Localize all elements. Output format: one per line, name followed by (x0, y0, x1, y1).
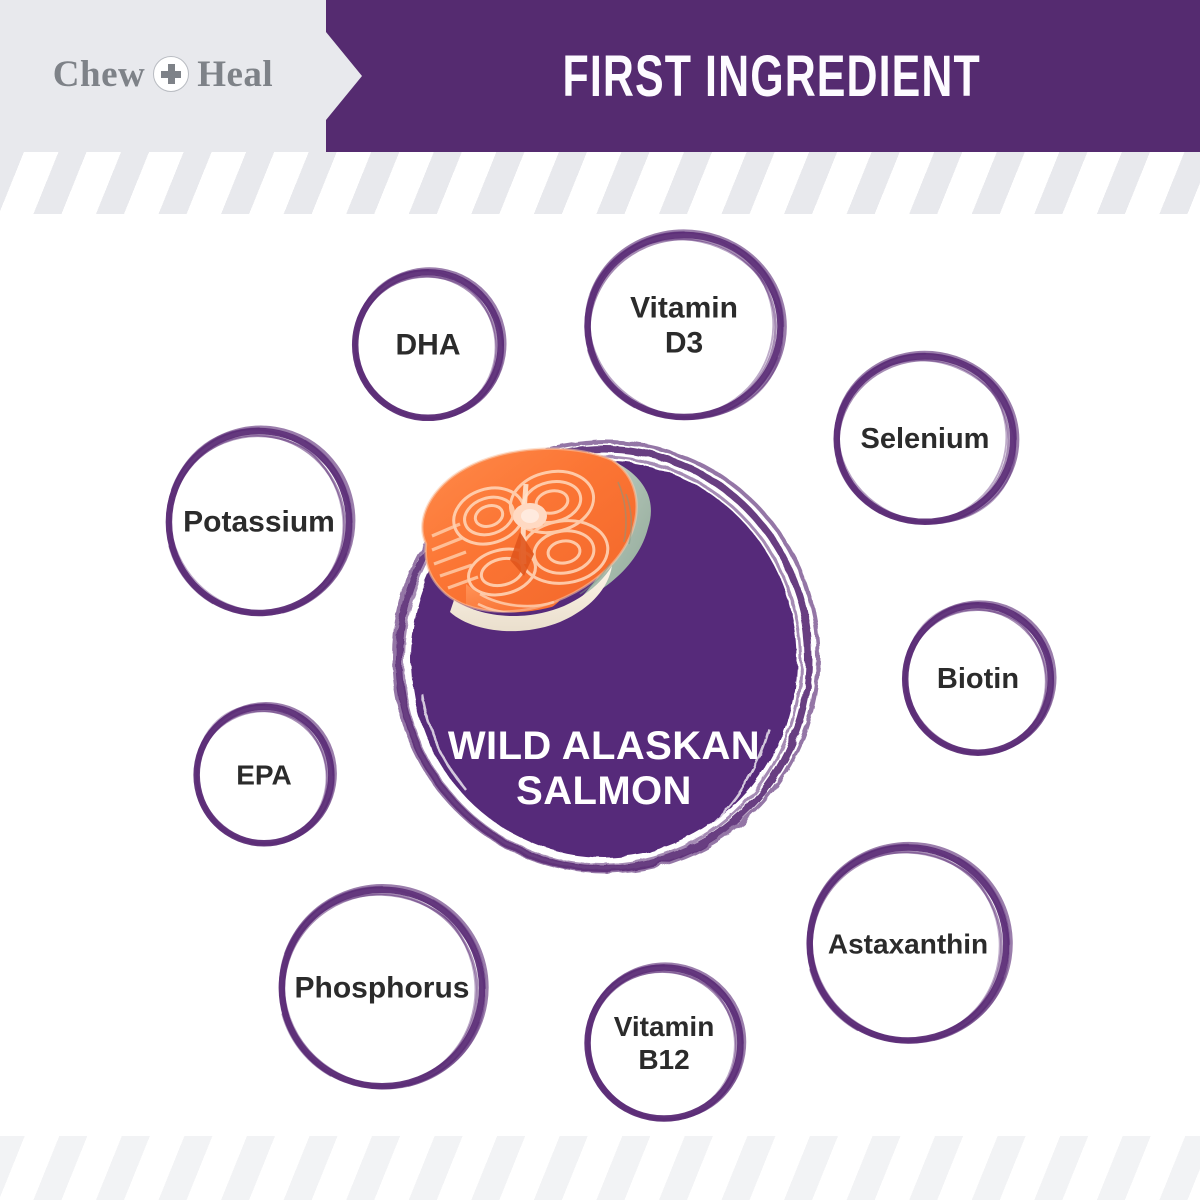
logo-word-heal: Heal (197, 53, 273, 96)
nutrient-label-vitamin-b12-line2: B12 (584, 1043, 744, 1076)
nutrient-bubble-selenium[interactable]: Selenium (828, 348, 1022, 530)
plus-in-circle-icon (153, 56, 189, 92)
title-banner: FIRST INGREDIENT (326, 0, 1200, 152)
nutrient-label-epa: EPA (194, 758, 334, 791)
nutrient-label-biotin: Biotin (902, 662, 1054, 696)
diagonal-stripes-top (0, 152, 1200, 214)
infographic-canvas: Chew Heal FIRST INGREDIENT (0, 0, 1200, 1200)
nutrient-bubble-vitamin-d3[interactable]: Vitamin D3 (578, 226, 790, 426)
nutrient-label-phosphorus: Phosphorus (276, 970, 488, 1005)
nutrient-label-vitamin-b12-line1: Vitamin (584, 1010, 744, 1043)
center-title: WILD ALASKAN SALMON (374, 724, 834, 814)
brand-logo-panel: Chew Heal (0, 0, 326, 152)
nutrient-label-vitamin-d3-line2: D3 (582, 326, 786, 361)
center-hub: WILD ALASKAN SALMON (374, 424, 834, 894)
nutrient-bubble-epa[interactable]: EPA (190, 700, 338, 850)
banner-chevron-notch-icon (326, 32, 362, 120)
nutrient-bubble-potassium[interactable]: Potassium (160, 422, 358, 622)
nutrient-label-potassium: Potassium (164, 504, 354, 539)
center-title-line1: WILD ALASKAN (374, 724, 834, 769)
nutrient-bubble-dha[interactable]: DHA (348, 265, 508, 425)
diagonal-stripes-bottom (0, 1136, 1200, 1200)
brand-logo: Chew Heal (53, 53, 273, 96)
header-bar: Chew Heal FIRST INGREDIENT (0, 0, 1200, 152)
salmon-steak-photo (374, 424, 674, 639)
center-title-line2: SALMON (374, 769, 834, 814)
logo-word-chew: Chew (53, 53, 145, 96)
nutrient-bubble-vitamin-b12[interactable]: Vitamin B12 (580, 960, 748, 1126)
nutrient-bubble-astaxanthin[interactable]: Astaxanthin (800, 838, 1016, 1050)
page-title: FIRST INGREDIENT (563, 43, 981, 110)
nutrient-label-selenium: Selenium (832, 422, 1018, 456)
nutrient-label-dha: DHA (352, 327, 504, 362)
nutrient-label-vitamin-d3-line1: Vitamin (582, 291, 786, 326)
nutrient-bubble-phosphorus[interactable]: Phosphorus (272, 880, 492, 1096)
nutrient-bubble-biotin[interactable]: Biotin (898, 598, 1058, 760)
nutrient-label-astaxanthin: Astaxanthin (804, 927, 1012, 960)
